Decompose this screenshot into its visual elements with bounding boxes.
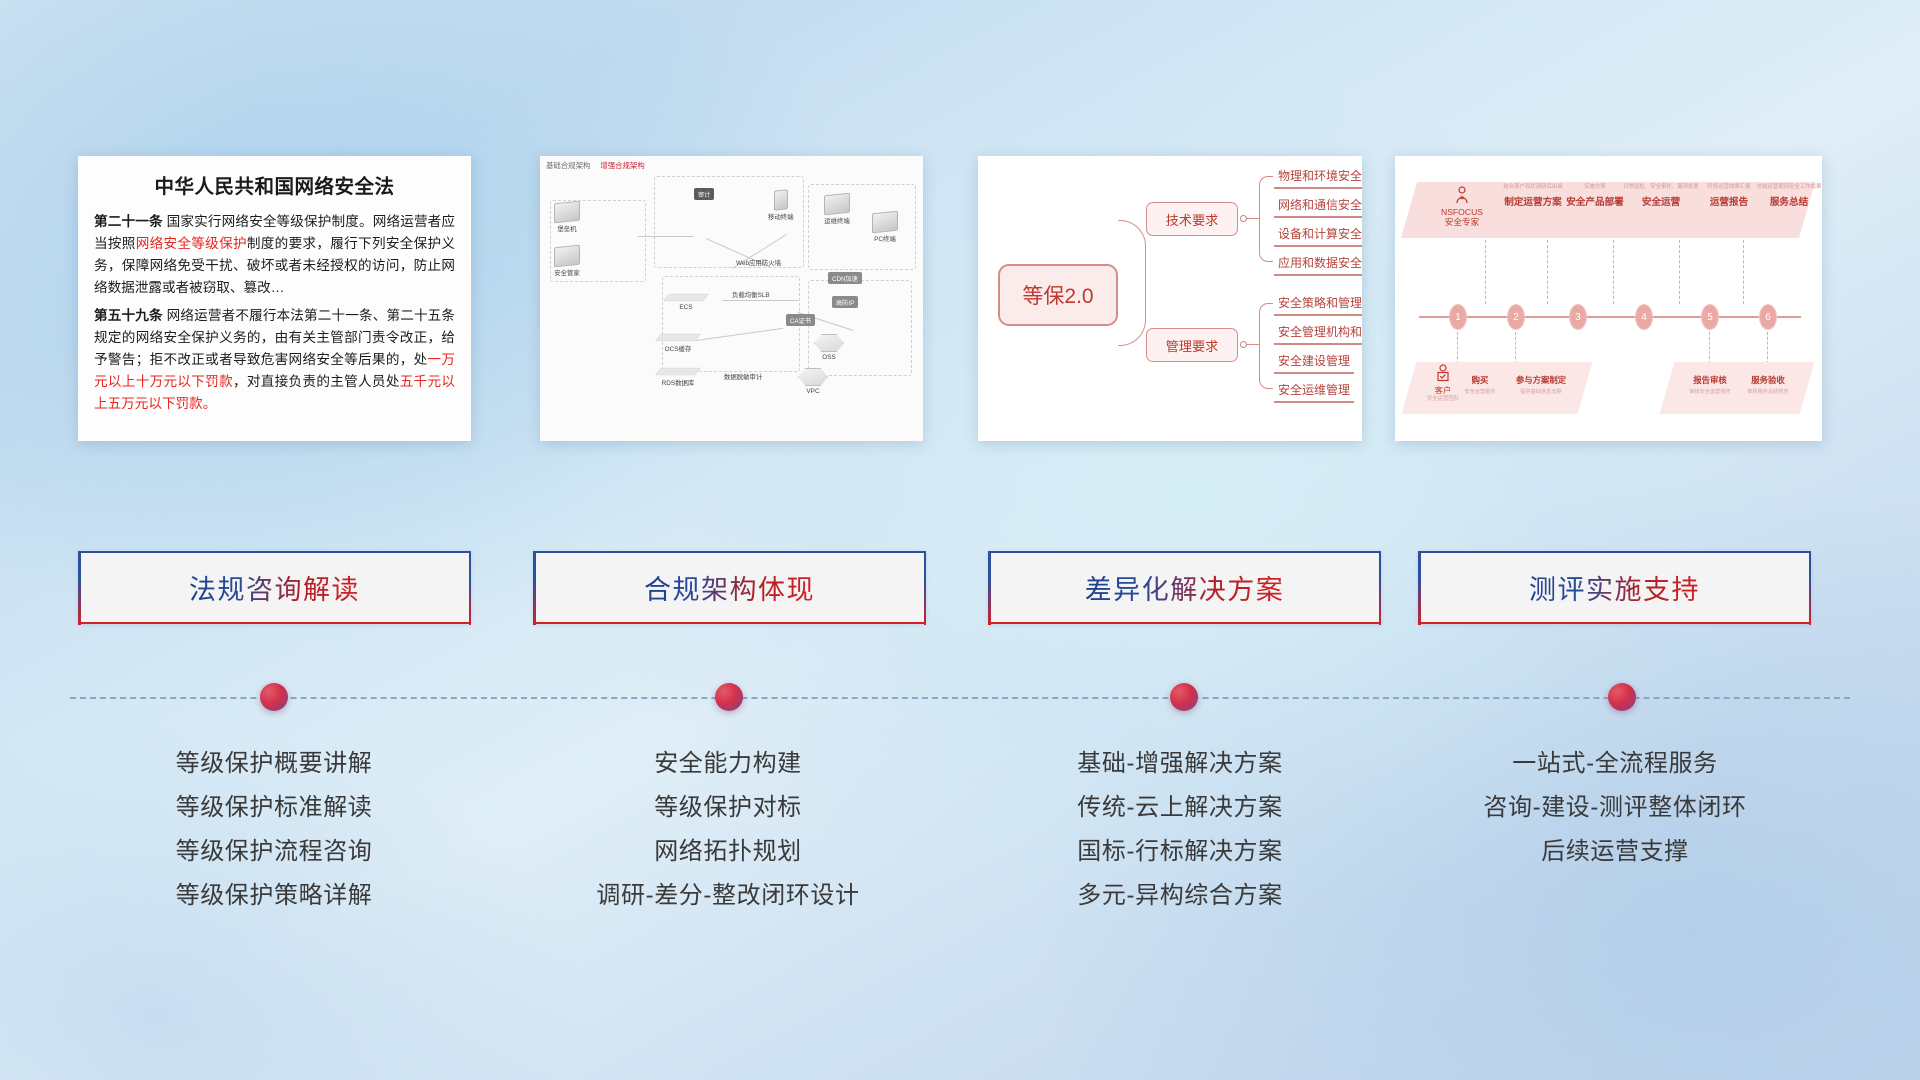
heading-label: 测评实施支持	[1529, 568, 1700, 607]
node-rds: RDS数据库	[658, 364, 698, 387]
timeline-bottom-step-title: 购买	[1459, 374, 1501, 386]
heading-box-differentiated-solution[interactable]: 差异化解决方案	[988, 551, 1381, 624]
service-timeline: NSFOCUS 安全专家 结合客户现状调研后出具 制定运营方案 实施方案 安全产…	[1395, 156, 1822, 441]
card-service-timeline[interactable]: NSFOCUS 安全专家 结合客户现状调研后出具 制定运营方案 实施方案 安全产…	[1395, 156, 1822, 441]
list-item: 基础-增强解决方案	[970, 742, 1390, 786]
mindmap-bracket-technical	[1259, 176, 1273, 262]
screenshot-cards-row: 中华人民共和国网络安全法 第二十一条 国家实行网络安全等级保护制度。网络运营者应…	[0, 156, 1920, 441]
heading-box-assessment-support[interactable]: 测评实施支持	[1418, 551, 1811, 624]
step-caption: 总结运营期间安全工作成果	[1751, 184, 1822, 190]
law-document: 中华人民共和国网络安全法 第二十一条 国家实行网络安全等级保护制度。网络运营者应…	[78, 156, 471, 431]
mindmap-root: 等保2.0	[998, 264, 1118, 326]
step-caption: 日常巡检、安全事件、漏洞处置	[1623, 184, 1699, 190]
timeline-top-step: 总结运营期间安全工作成果 服务总结	[1751, 184, 1822, 208]
node-waf: Web应用防火墙	[736, 258, 781, 267]
timeline-top-band-content: NSFOCUS 安全专家 结合客户现状调研后出具 制定运营方案 实施方案 安全产…	[1409, 182, 1807, 238]
node-label: 运维终端	[824, 218, 850, 225]
plate-icon	[663, 294, 709, 301]
timeline-top-step: 实施方案 安全产品部署	[1557, 184, 1633, 208]
timeline-step-number: 6	[1759, 304, 1777, 330]
card-mindmap-dengbao[interactable]: 等保2.0 技术要求 物理和环境安全 网络和通信安全 设备和计算安全 应用和数据…	[978, 156, 1362, 441]
mindmap-leaf: 安全运维管理	[1274, 381, 1354, 403]
customer-caption: 安全运营团队	[1417, 396, 1469, 403]
mindmap-branch-management: 管理要求	[1146, 328, 1238, 362]
plate-icon	[655, 368, 701, 375]
list-item: 国标-行标解决方案	[970, 830, 1390, 874]
list-item: 等级保护标准解读	[64, 786, 484, 830]
hex-icon	[798, 368, 828, 386]
tab-enhanced-architecture[interactable]: 增强合规架构	[600, 160, 644, 171]
node-bastion: 堡垒机	[554, 202, 580, 233]
node-label: PC终端	[874, 236, 896, 243]
step-caption: 实施方案	[1557, 184, 1633, 190]
expert-badge: NSFOCUS 安全专家	[1431, 186, 1493, 228]
node-mobile-terminal: 移动终端	[768, 190, 794, 221]
expert-brand: NSFOCUS	[1431, 207, 1493, 218]
card-cybersecurity-law[interactable]: 中华人民共和国网络安全法 第二十一条 国家实行网络安全等级保护制度。网络运营者应…	[78, 156, 471, 441]
node-label: OSS	[822, 354, 836, 361]
timeline-axis	[1419, 316, 1801, 318]
list-item: 等级保护概要讲解	[64, 742, 484, 786]
mindmap-collapse-dot-management[interactable]	[1240, 341, 1247, 348]
mindmap-connector-top	[1118, 220, 1146, 296]
timeline-step-number: 2	[1507, 304, 1525, 330]
timeline-step-number: 4	[1635, 304, 1653, 330]
timeline-bottom-step-title: 参与方案制定	[1505, 374, 1577, 386]
list-item: 等级保护对标	[518, 786, 938, 830]
chip-anti-ddos-ip: 高防IP	[832, 296, 858, 308]
chip-ca-cert: CA证书	[786, 314, 815, 326]
heading-label: 法规咨询解读	[189, 568, 360, 607]
node-label: RDS数据库	[662, 380, 695, 387]
heading-box-regulation-consulting[interactable]: 法规咨询解读	[78, 551, 471, 624]
timeline-dropper	[1613, 240, 1614, 304]
timeline-rail	[70, 697, 1850, 699]
list-item: 等级保护策略详解	[64, 874, 484, 918]
timeline-dropper	[1743, 240, 1744, 304]
list-item: 一站式-全流程服务	[1405, 742, 1825, 786]
node-pc-terminal: PC终端	[872, 212, 898, 243]
node-ecs: ECS	[666, 290, 706, 311]
node-label: 数据脱敏审计	[724, 374, 762, 381]
rail-marker-1[interactable]	[260, 683, 288, 711]
bullet-list-compliance-architecture: 安全能力构建 等级保护对标 网络拓扑规划 调研-差分-整改闭环设计	[518, 742, 938, 918]
law-title: 中华人民共和国网络安全法	[94, 170, 455, 199]
mindmap-leaf: 设备和计算安全	[1274, 225, 1362, 247]
mindmap-bracket-management	[1259, 303, 1273, 389]
zone-storage	[808, 280, 912, 376]
node-ocs-cache: OCS缓存	[658, 330, 698, 353]
node-ops-terminal: 运维终端	[824, 194, 850, 225]
card-compliance-architecture[interactable]: 基础合规架构 增强合规架构	[540, 156, 923, 441]
node-label: Web应用防火墙	[736, 260, 781, 267]
chip-cdn: CDN加速	[828, 272, 862, 284]
wire-1	[638, 236, 694, 237]
node-oss: OSS	[814, 334, 844, 361]
node-data-masking-audit: 数据脱敏审计	[724, 372, 762, 381]
node-security-butler: 安全管家	[554, 246, 580, 277]
timeline-dropper	[1547, 240, 1548, 304]
node-label: 移动终端	[768, 214, 794, 221]
expert-role: 安全专家	[1431, 217, 1493, 228]
list-item: 后续运营支撑	[1405, 830, 1825, 874]
timeline-riser	[1457, 332, 1458, 364]
timeline-bottom-step-caption: 审核安全运营报告	[1677, 388, 1743, 395]
mindmap-stem-management	[1247, 344, 1259, 345]
node-slb: 负载均衡SLB	[732, 290, 770, 299]
mindmap-leaf: 安全管理机构和人员	[1274, 323, 1362, 345]
step-title: 安全产品部署	[1557, 194, 1633, 208]
hex-icon	[814, 334, 844, 352]
mindmap-collapse-dot-technical[interactable]	[1240, 215, 1247, 222]
heading-label: 合规架构体现	[644, 568, 815, 607]
timeline-dropper	[1485, 240, 1486, 304]
mindmap-stem-technical	[1247, 218, 1259, 219]
list-item: 网络拓扑规划	[518, 830, 938, 874]
node-label: ECS	[679, 304, 692, 311]
person-star-icon	[1454, 186, 1470, 204]
bullet-list-assessment-support: 一站式-全流程服务 咨询-建设-测评整体闭环 后续运营支撑	[1405, 742, 1825, 874]
plate-icon	[655, 334, 701, 341]
list-item: 咨询-建设-测评整体闭环	[1405, 786, 1825, 830]
mindmap-leaf: 网络和通信安全	[1274, 196, 1362, 218]
tab-basic-architecture[interactable]: 基础合规架构	[546, 160, 590, 171]
bullet-list-regulation-consulting: 等级保护概要讲解 等级保护标准解读 等级保护流程咨询 等级保护策略详解	[64, 742, 484, 918]
monitor-icon	[824, 193, 850, 216]
phone-icon	[774, 189, 788, 210]
server-icon	[554, 201, 580, 224]
monitor-icon	[872, 211, 898, 234]
step-title: 服务总结	[1751, 194, 1822, 208]
timeline-dropper	[1679, 240, 1680, 304]
heading-label: 差异化解决方案	[1085, 568, 1285, 607]
wire-3	[722, 300, 798, 301]
list-item: 多元-异构综合方案	[970, 874, 1390, 918]
rail-marker-4[interactable]	[1608, 683, 1636, 711]
step-title: 安全运营	[1623, 194, 1699, 208]
timeline-riser	[1767, 332, 1768, 364]
architecture-canvas: 堡垒机 安全管家 审计 ECS OCS缓存	[546, 172, 917, 435]
timeline-bottom-step-caption: 提供基础信息支撑	[1499, 388, 1583, 395]
timeline-step-number: 3	[1569, 304, 1587, 330]
timeline-riser	[1709, 332, 1710, 364]
timeline-step-number: 5	[1701, 304, 1719, 330]
timeline-step-number: 1	[1449, 304, 1467, 330]
bullet-list-differentiated-solution: 基础-增强解决方案 传统-云上解决方案 国标-行标解决方案 多元-异构综合方案	[970, 742, 1390, 918]
rail-marker-2[interactable]	[715, 683, 743, 711]
node-label: VPC	[806, 388, 819, 395]
law-article-59: 第五十九条 网络运营者不履行本法第二十一条、第二十五条规定的网络安全保护义务的，…	[94, 305, 455, 415]
person-check-icon	[1436, 364, 1450, 382]
timeline-top-step: 日常巡检、安全事件、漏洞处置 安全运营	[1623, 184, 1699, 208]
slide-canvas: 中华人民共和国网络安全法 第二十一条 国家实行网络安全等级保护制度。网络运营者应…	[0, 0, 1920, 1080]
list-item: 调研-差分-整改闭环设计	[518, 874, 938, 918]
heading-box-compliance-architecture[interactable]: 合规架构体现	[533, 551, 926, 624]
node-vpc: VPC	[798, 368, 828, 395]
law-article-21-highlight: 网络安全等级保护	[136, 236, 247, 251]
shield-icon	[554, 245, 580, 268]
mindmap: 等保2.0 技术要求 物理和环境安全 网络和通信安全 设备和计算安全 应用和数据…	[978, 156, 1362, 441]
chip-audit: 审计	[694, 188, 714, 200]
node-label: 安全管家	[554, 270, 580, 277]
list-item: 安全能力构建	[518, 742, 938, 786]
mindmap-leaf: 物理和环境安全	[1274, 167, 1362, 189]
list-item: 传统-云上解决方案	[970, 786, 1390, 830]
law-article-21: 第二十一条 国家实行网络安全等级保护制度。网络运营者应当按照网络安全等级保护制度…	[94, 211, 455, 299]
mindmap-leaf: 安全建设管理	[1274, 352, 1354, 374]
rail-marker-3[interactable]	[1170, 683, 1198, 711]
node-label: 堡垒机	[557, 226, 576, 233]
law-article-21-label: 第二十一条	[94, 214, 163, 229]
architecture-tabs: 基础合规架构 增强合规架构	[546, 160, 645, 171]
list-item: 等级保护流程咨询	[64, 830, 484, 874]
node-label: 负载均衡SLB	[732, 292, 770, 299]
timeline-bottom-step-caption: 审核服务总结报告	[1735, 388, 1801, 395]
mindmap-leaf: 应用和数据安全	[1274, 254, 1362, 276]
law-article-59-text-b: ，对直接负责的主管人员处	[233, 374, 400, 389]
timeline-bottom-step-title: 报告审核	[1685, 374, 1735, 386]
mindmap-connector-bottom	[1118, 294, 1146, 346]
timeline-riser	[1515, 332, 1516, 364]
node-label: OCS缓存	[665, 346, 692, 353]
mindmap-leaf: 安全策略和管理制度	[1274, 294, 1362, 316]
mindmap-branch-technical: 技术要求	[1146, 202, 1238, 236]
architecture-diagram: 基础合规架构 增强合规架构	[540, 156, 923, 441]
law-article-59-label: 第五十九条	[94, 308, 163, 323]
timeline-bottom-step-title: 服务验收	[1743, 374, 1793, 386]
